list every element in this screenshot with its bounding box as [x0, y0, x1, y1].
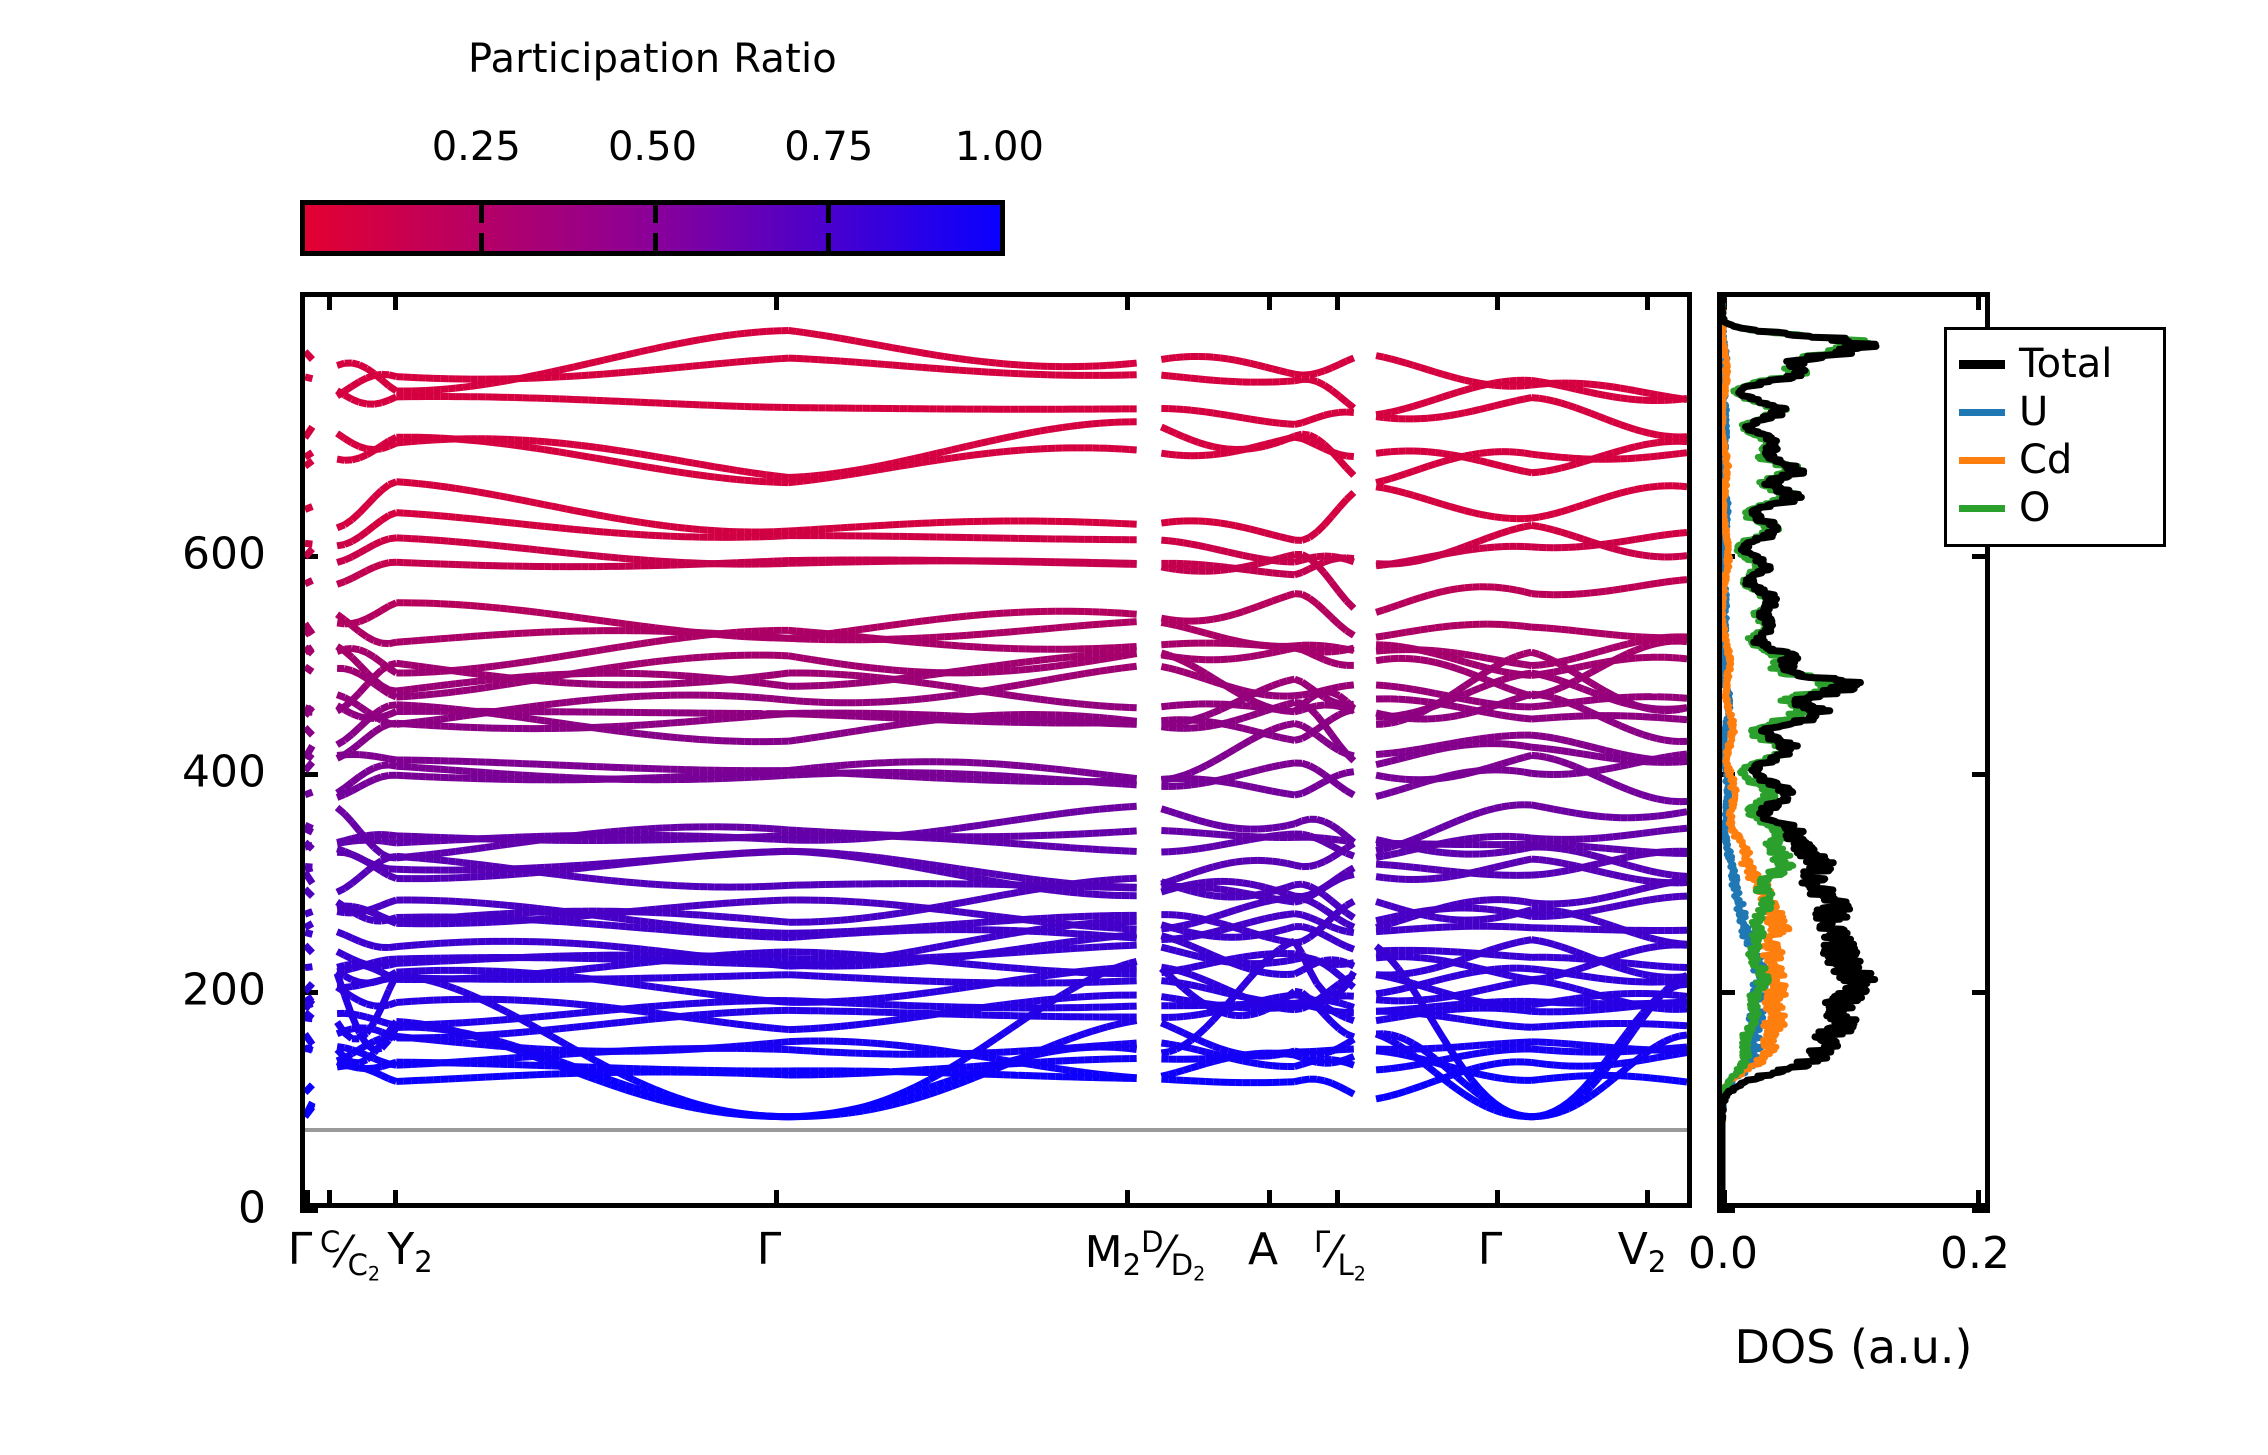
colorbar-tick-bottom-2 — [826, 233, 831, 251]
band-y-tick-labels: 0 200 400 600 — [0, 292, 278, 1208]
dos-x-axis-label: DOS (a.u.) — [1717, 1320, 1990, 1374]
band-ytick-label-400: 400 — [182, 747, 266, 798]
dos-ytick-right-0 — [1972, 1208, 1990, 1213]
legend-line-u — [1959, 409, 2005, 416]
band-ytick-label-200: 200 — [182, 965, 266, 1016]
dos-legend: Total U Cd O — [1944, 327, 2166, 547]
colorbar-tick-top-1 — [653, 205, 658, 223]
band-xtick-label-c-c2: C⁄C2 — [320, 1228, 380, 1284]
colorbar-tick-bottom-0 — [479, 233, 484, 251]
legend-label-o: O — [2019, 488, 2050, 528]
figure-canvas: Participation Ratio 0.25 0.50 0.75 1.00 … — [0, 0, 2268, 1455]
band-structure-plot — [300, 292, 1692, 1208]
colorbar-tick-top-2 — [826, 205, 831, 223]
colorbar-tick-bottom-1 — [653, 233, 658, 251]
legend-line-cd — [1959, 457, 2005, 464]
legend-row-cd: Cd — [1959, 436, 2151, 484]
colorbar-tick-label-0: 0.25 — [432, 124, 521, 170]
band-dispersion-curves — [305, 297, 1687, 1203]
colorbar-tick-label-1: 0.50 — [608, 124, 697, 170]
band-curves-clip — [305, 297, 1687, 1203]
band-xtick-label-m2-d2: M2D⁄D2 — [1085, 1228, 1206, 1284]
dos-xtick-label-02: 0.2 — [1940, 1228, 2010, 1279]
colorbar-tick-top-0 — [479, 205, 484, 223]
band-xtick-label-gamma-2: Γ — [757, 1228, 782, 1272]
legend-label-total: Total — [2019, 344, 2112, 384]
dos-xtick-label-0: 0.0 — [1688, 1228, 1758, 1279]
dos-ytick-0 — [1717, 1208, 1735, 1213]
legend-row-total: Total — [1959, 340, 2151, 388]
band-ytick-label-0: 0 — [238, 1183, 266, 1234]
band-xtick-label-a: A — [1248, 1228, 1278, 1272]
legend-line-total — [1959, 360, 2005, 369]
legend-row-u: U — [1959, 388, 2151, 436]
band-xtick-label-gamma-1: Γ — [288, 1228, 313, 1272]
legend-label-cd: Cd — [2019, 440, 2072, 480]
colorbar-tick-label-3: 1.00 — [955, 124, 1044, 170]
band-ytick-0 — [300, 1208, 318, 1213]
legend-label-u: U — [2019, 392, 2048, 432]
colorbar-tick-label-2: 0.75 — [784, 124, 873, 170]
band-xtick-label-v2: V2 — [1618, 1228, 1667, 1277]
legend-row-o: O — [1959, 484, 2151, 532]
dos-x-tick-labels: 0.0 0.2 — [1717, 1228, 1990, 1288]
participation-ratio-colorbar — [300, 200, 1005, 256]
band-xtick-label-gamma-3: Γ — [1478, 1228, 1503, 1272]
band-xtick-label-y2: Y2 — [387, 1228, 432, 1277]
band-ytick-label-600: 600 — [182, 529, 266, 580]
band-x-tick-labels: Γ C⁄C2 Y2 Γ M2D⁄D2 A Γ⁄L2 Γ V2 — [300, 1228, 1692, 1318]
legend-line-o — [1959, 505, 2005, 512]
band-xtick-label-g-l2: Γ⁄L2 — [1314, 1228, 1366, 1284]
colorbar-tick-labels: 0.25 0.50 0.75 1.00 — [300, 124, 1005, 174]
colorbar-title: Participation Ratio — [300, 36, 1005, 82]
